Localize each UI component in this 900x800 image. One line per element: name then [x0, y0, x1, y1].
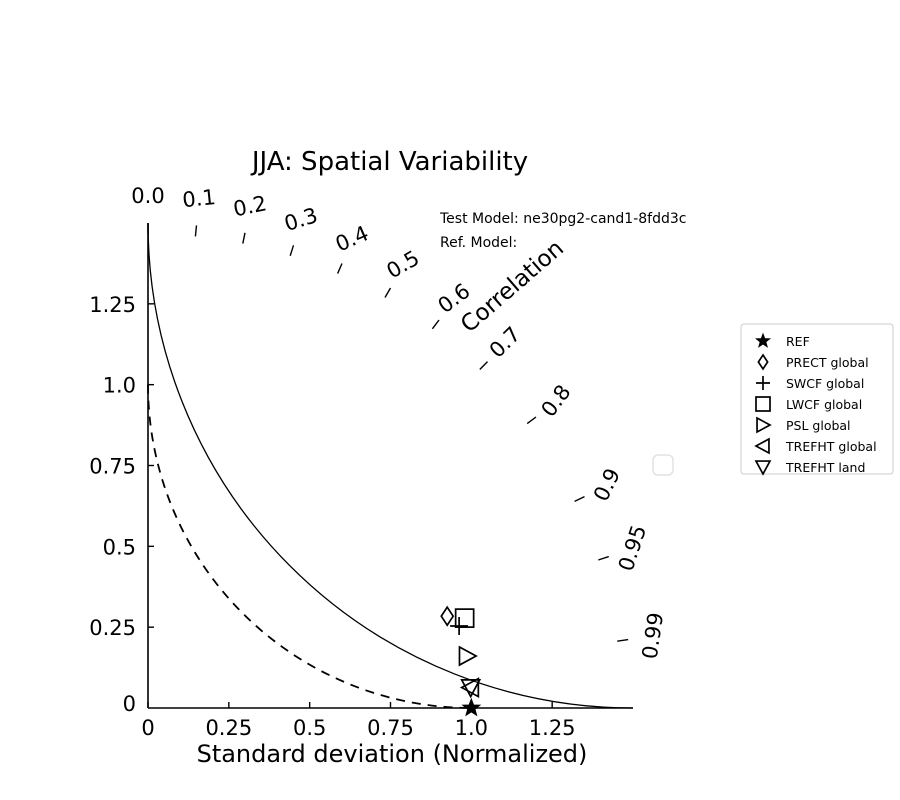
correlation-tick-label: 0.5: [383, 246, 424, 283]
correlation-tick-label: 0.9: [589, 465, 625, 506]
correlation-tick-label: 0.8: [536, 380, 575, 421]
test-model-annotation: Test Model: ne30pg2-cand1-8fdd3c: [439, 211, 686, 227]
x-axis-label: Standard deviation (Normalized): [197, 740, 588, 768]
correlation-tick-mark: [195, 225, 196, 236]
correlation-tick-label: 0.3: [281, 203, 320, 236]
x-tick-label: 1.0: [455, 716, 488, 740]
legend-item-label: REF: [786, 334, 810, 349]
correlation-tick-label: 0.95: [614, 522, 651, 574]
ref-model-annotation: Ref. Model:: [440, 235, 517, 251]
y-tick-label: 0.5: [103, 535, 136, 559]
correlation-tick-mark: [432, 320, 439, 329]
correlation-tick-label: 0.2: [231, 191, 269, 221]
correlation-tick-mark: [617, 640, 628, 642]
correlation-tick-label: 0.7: [485, 322, 526, 363]
correlation-tick-mark: [338, 263, 342, 273]
correlation-tick-label: 0.0: [131, 184, 164, 208]
data-point-marker: [441, 607, 453, 625]
y-tick-label: 1.0: [103, 374, 136, 398]
taylor-diagram-canvas: 00.250.50.751.01.2500.250.50.751.01.250.…: [0, 0, 900, 800]
legend-item-label: SWCF global: [786, 376, 864, 391]
correlation-tick-mark: [385, 288, 391, 298]
correlation-tick-mark: [480, 362, 488, 370]
y-tick-label: 0.25: [89, 616, 136, 640]
x-tick-label: 0: [141, 716, 154, 740]
chart-title: JJA: Spatial Variability: [250, 147, 528, 177]
correlation-tick-label: 0.1: [181, 185, 217, 212]
outer-correlation-arc: [148, 223, 633, 708]
legend-item-label: LWCF global: [786, 397, 862, 412]
empty-placeholder-box: [653, 455, 673, 475]
data-point-marker: [450, 617, 468, 635]
y-tick-label: 0.75: [89, 455, 136, 479]
legend-item-label: PSL global: [786, 418, 851, 433]
data-point-marker: [459, 647, 476, 665]
correlation-tick-mark: [290, 245, 293, 255]
correlation-tick-label: 0.4: [332, 221, 372, 256]
correlation-tick-mark: [575, 497, 585, 502]
legend-item-label: TREFHT global: [785, 439, 877, 454]
legend-item-label: PRECT global: [786, 355, 869, 370]
x-tick-label: 0.5: [293, 716, 326, 740]
x-tick-label: 1.25: [529, 716, 576, 740]
legend-item-label: TREFHT land: [785, 460, 865, 475]
correlation-tick-mark: [598, 557, 608, 560]
taylor-diagram-figure: 00.250.50.751.01.2500.250.50.751.01.250.…: [0, 0, 900, 800]
correlation-tick-label: 0.99: [638, 611, 668, 661]
x-tick-label: 0.75: [367, 716, 414, 740]
x-tick-label: 0.25: [205, 716, 252, 740]
y-tick-label: 1.25: [89, 293, 136, 317]
reference-point-marker: [463, 699, 480, 715]
correlation-tick-mark: [243, 233, 245, 244]
y-tick-label: 0: [123, 692, 136, 716]
correlation-tick-mark: [527, 417, 536, 424]
